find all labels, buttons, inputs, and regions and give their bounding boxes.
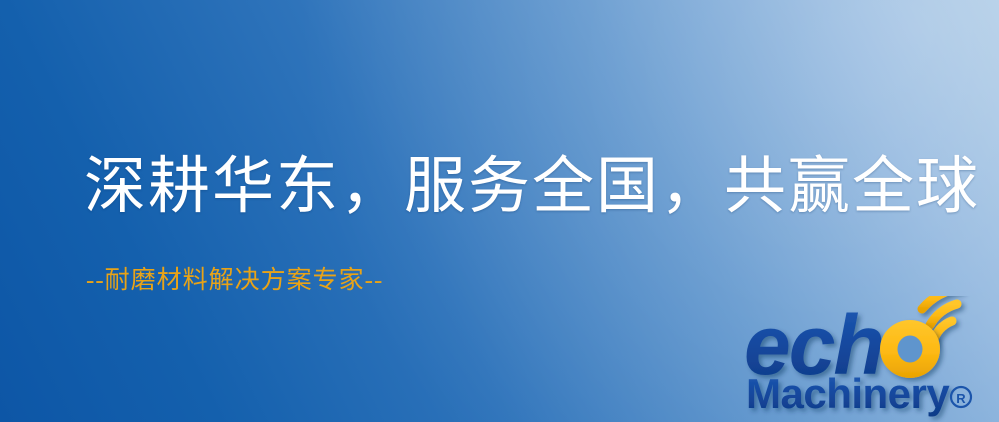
- svg-text:Machinery: Machinery: [746, 370, 950, 417]
- svg-text:R: R: [956, 391, 966, 406]
- echo-machinery-logo[interactable]: ech Machinery R: [744, 296, 999, 422]
- banner-subtitle: --耐磨材料解决方案专家--: [86, 266, 383, 296]
- banner-headline: 深耕华东，服务全国，共赢全球: [84, 150, 980, 224]
- logo-tagline: Machinery: [746, 370, 950, 417]
- registered-trademark-icon: R: [951, 387, 971, 407]
- hero-banner: 深耕华东，服务全国，共赢全球 --耐磨材料解决方案专家--: [0, 0, 999, 422]
